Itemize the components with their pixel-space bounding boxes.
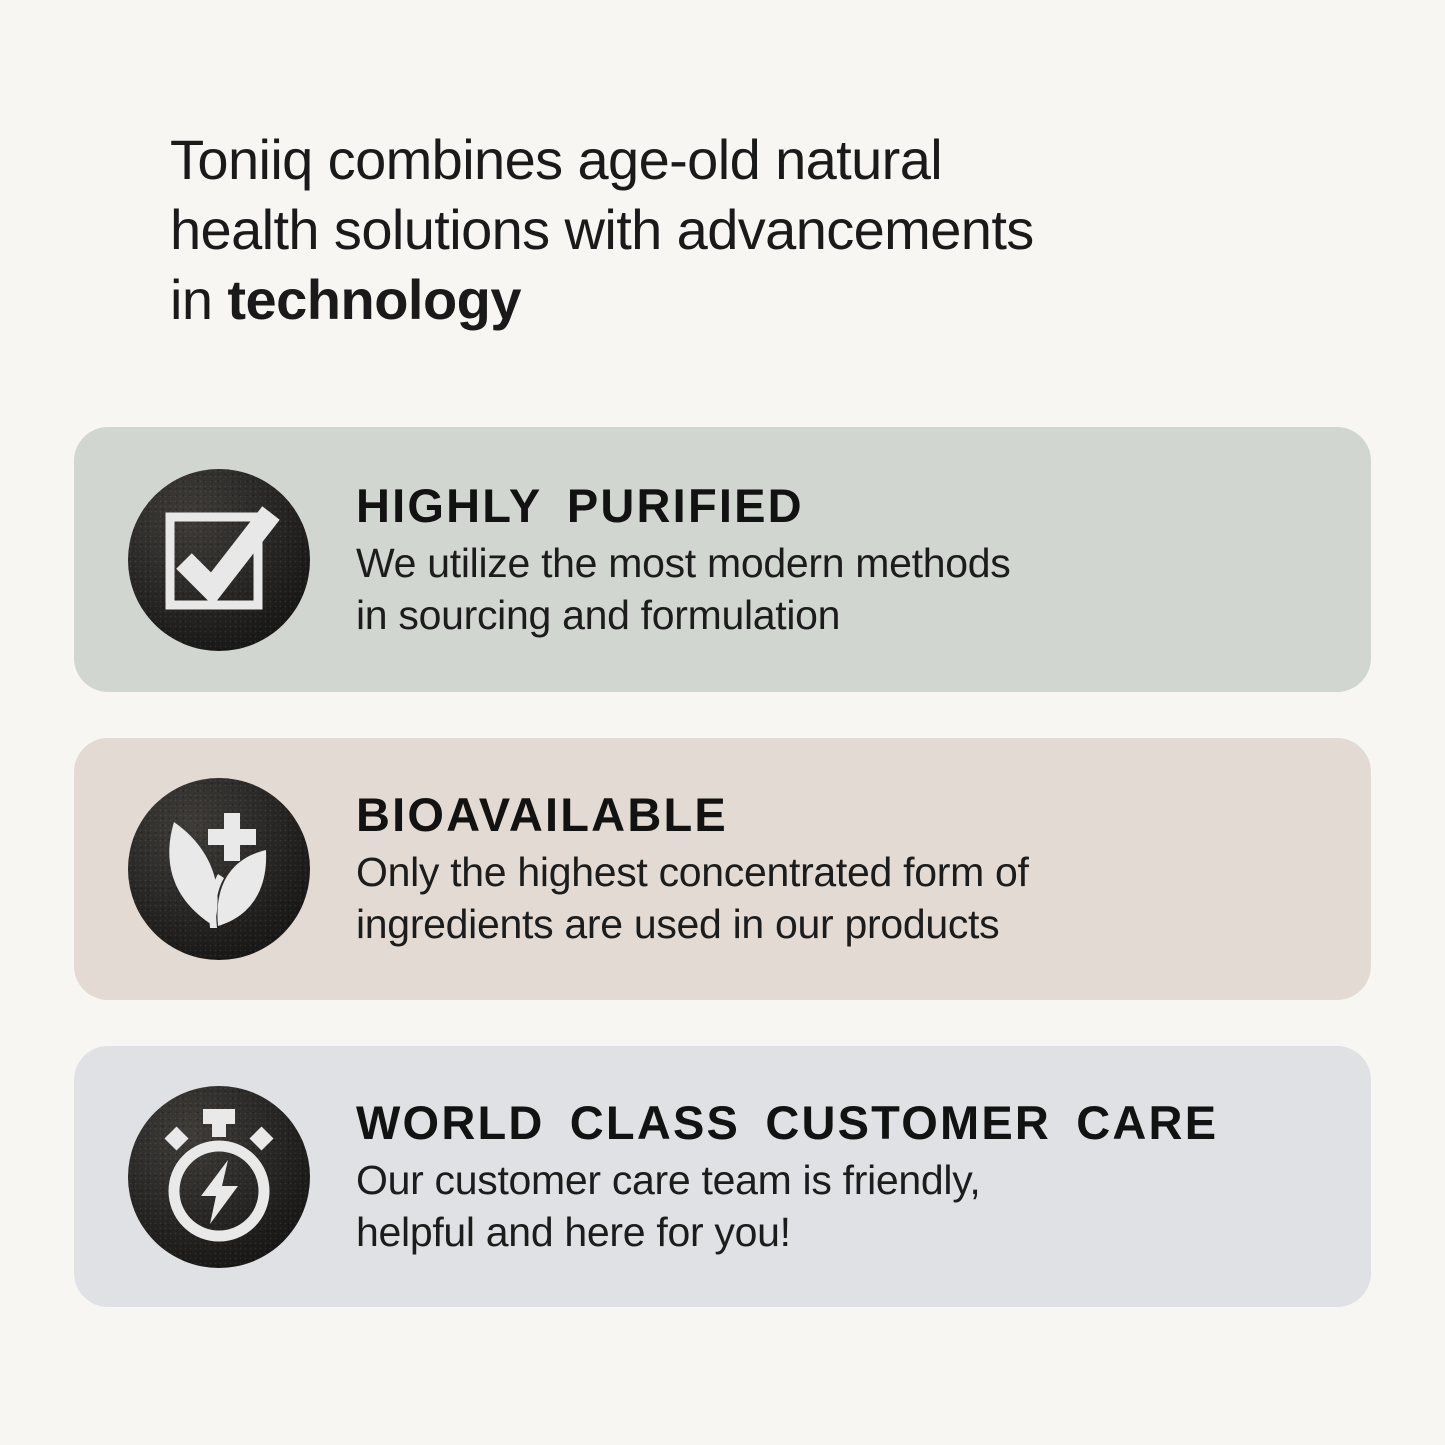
- feature-card-description-line-2: ingredients are used in our products: [356, 898, 1029, 950]
- feature-card-bioavailable: BIOAVAILABLE Only the highest concentrat…: [74, 738, 1371, 1000]
- headline-line-2: health solutions with advancements: [170, 195, 1200, 265]
- feature-card-text: BIOAVAILABLE Only the highest concentrat…: [356, 788, 1059, 950]
- feature-card-title: HIGHLY PURIFIED: [356, 479, 1010, 533]
- leaves-plus-icon: [128, 778, 310, 960]
- feature-card-description-line-2: in sourcing and formulation: [356, 589, 1010, 641]
- headline-line-3: in technology: [170, 265, 1200, 335]
- feature-card-world-class-customer-care: WORLD CLASS CUSTOMER CARE Our customer c…: [74, 1046, 1371, 1307]
- feature-card-title: WORLD CLASS CUSTOMER CARE: [356, 1096, 1218, 1150]
- feature-card-text: HIGHLY PURIFIED We utilize the most mode…: [356, 479, 1040, 641]
- feature-card-title: BIOAVAILABLE: [356, 788, 1029, 842]
- feature-card-description-line-1: Our customer care team is friendly,: [356, 1154, 1218, 1206]
- feature-card-description: We utilize the most modern methods in so…: [356, 537, 1010, 641]
- headline-line-3-prefix: in: [170, 268, 227, 331]
- headline-line-1: Toniiq combines age-old natural: [170, 125, 1200, 195]
- infographic-page: Toniiq combines age-old natural health s…: [0, 0, 1445, 1445]
- feature-card-description: Our customer care team is friendly, help…: [356, 1154, 1218, 1258]
- checkbox-check-icon: [128, 469, 310, 651]
- stopwatch-bolt-icon: [128, 1086, 310, 1268]
- feature-card-description-line-1: Only the highest concentrated form of: [356, 846, 1029, 898]
- feature-card-description: Only the highest concentrated form of in…: [356, 846, 1029, 950]
- feature-card-description-line-1: We utilize the most modern methods: [356, 537, 1010, 589]
- feature-card-description-line-2: helpful and here for you!: [356, 1206, 1218, 1258]
- headline-emphasis-technology: technology: [227, 268, 521, 331]
- feature-card-highly-purified: HIGHLY PURIFIED We utilize the most mode…: [74, 427, 1371, 692]
- page-title: Toniiq combines age-old natural health s…: [170, 125, 1200, 335]
- feature-card-text: WORLD CLASS CUSTOMER CARE Our customer c…: [356, 1096, 1248, 1258]
